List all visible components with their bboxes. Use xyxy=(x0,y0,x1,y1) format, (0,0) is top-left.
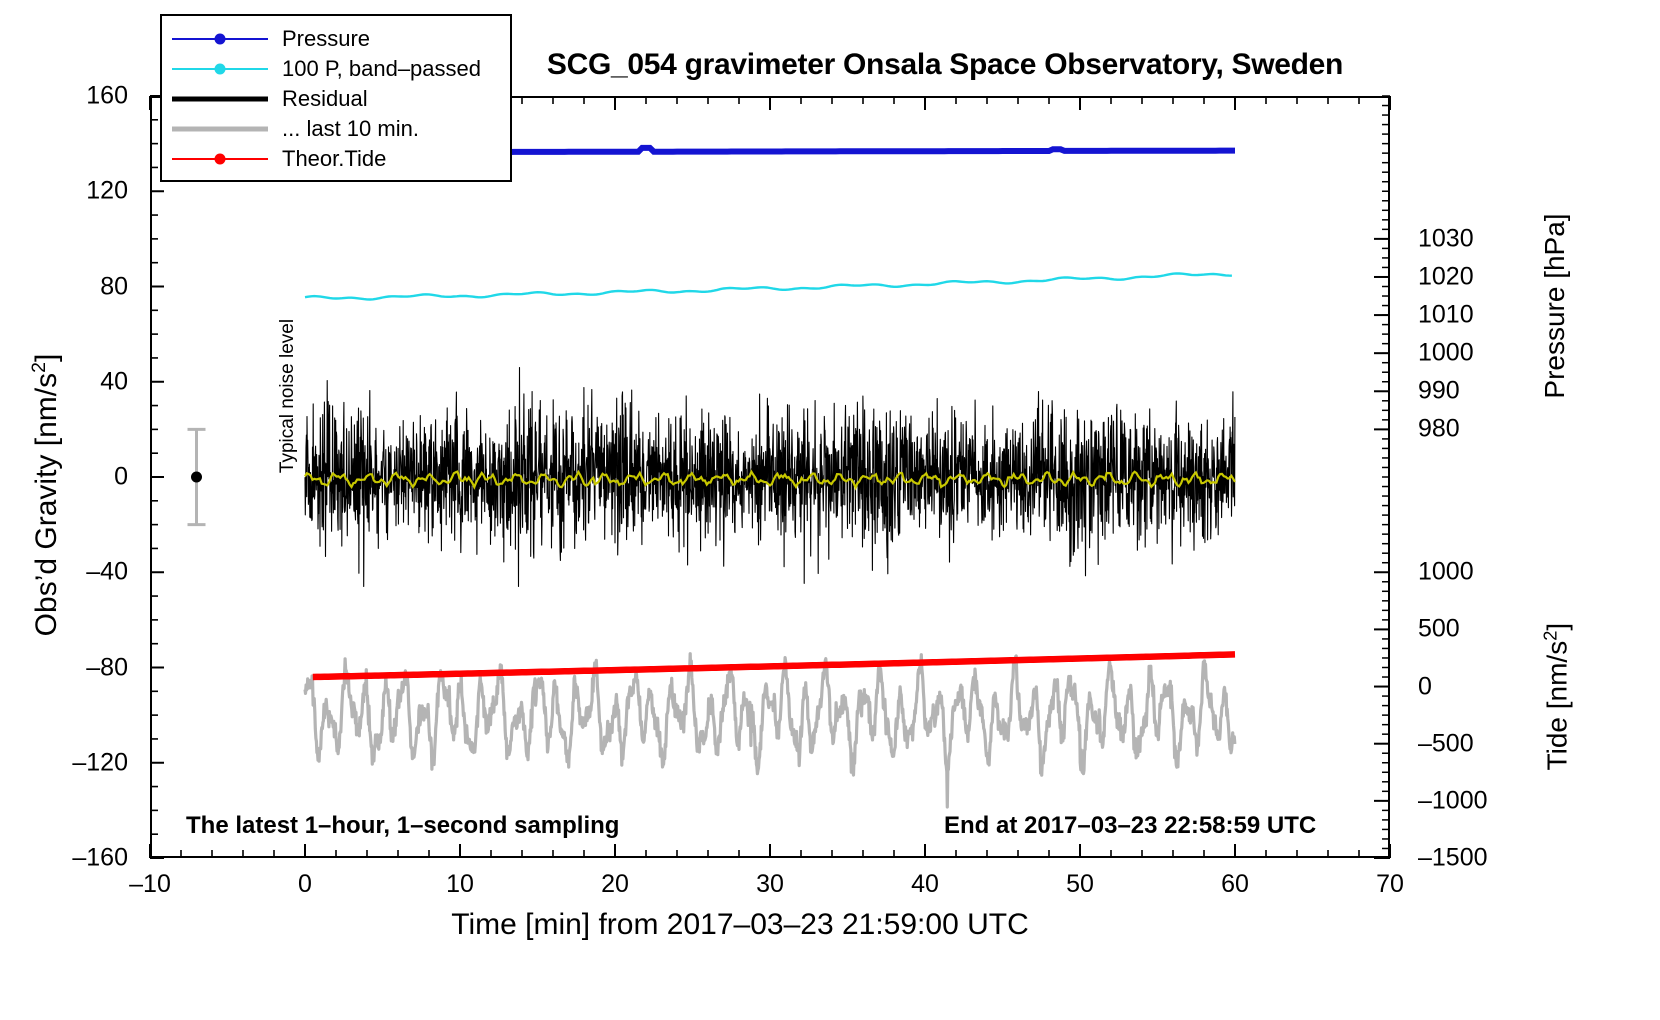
y-tick-pressure-5: 980 xyxy=(1418,415,1460,444)
annotation-noise-level: Typical noise level xyxy=(277,286,299,506)
legend-label-theor-tide: Theor.Tide xyxy=(282,146,386,172)
legend-label-pressure: Pressure xyxy=(282,26,370,52)
page-title: SCG_054 gravimeter Onsala Space Observat… xyxy=(525,48,1365,82)
legend-swatch-bandpassed xyxy=(172,61,268,77)
chart-page: SCG_054 gravimeter Onsala Space Observat… xyxy=(0,0,1660,1020)
x-tick-7: 60 xyxy=(1221,870,1249,899)
y-tick-pressure-2: 1010 xyxy=(1418,301,1474,330)
legend-swatch-residual xyxy=(172,91,268,107)
y-axis-title-left: Obs’d Gravity [nm/s2] xyxy=(28,175,64,815)
legend-swatch-theor-tide xyxy=(172,151,268,167)
y-tick-pressure-1: 1020 xyxy=(1418,262,1474,291)
legend-item-pressure[interactable]: Pressure xyxy=(172,24,500,54)
y-tick-left-7: –120 xyxy=(8,748,128,777)
chart-legend: Pressure 100 P, band–passed Residual ...… xyxy=(160,14,512,182)
x-tick-8: 70 xyxy=(1376,870,1404,899)
x-axis-title: Time [min] from 2017–03–23 21:59:00 UTC xyxy=(0,908,1480,942)
y-tick-pressure-3: 1000 xyxy=(1418,339,1474,368)
y-tick-tide-0: 1000 xyxy=(1418,558,1474,587)
x-tick-6: 50 xyxy=(1066,870,1094,899)
x-tick-0: –10 xyxy=(129,870,171,899)
legend-swatch-last10min xyxy=(172,121,268,137)
y-tick-tide-2: 0 xyxy=(1418,672,1432,701)
legend-label-bandpassed: 100 P, band–passed xyxy=(282,56,481,82)
plot-area xyxy=(150,96,1390,858)
annotation-sampling-note: The latest 1–hour, 1–second sampling xyxy=(186,812,619,840)
y-tick-left-3: 40 xyxy=(8,367,128,396)
legend-label-last10min: ... last 10 min. xyxy=(282,116,419,142)
y-tick-left-6: –80 xyxy=(8,653,128,682)
legend-swatch-pressure xyxy=(172,31,268,47)
x-tick-1: 0 xyxy=(298,870,312,899)
y-tick-left-2: 80 xyxy=(8,272,128,301)
annotation-end-time: End at 2017–03–23 22:58:59 UTC xyxy=(944,812,1316,840)
x-tick-4: 30 xyxy=(756,870,784,899)
x-tick-2: 10 xyxy=(446,870,474,899)
x-tick-5: 40 xyxy=(911,870,939,899)
legend-label-residual: Residual xyxy=(282,86,368,112)
y-tick-pressure-4: 990 xyxy=(1418,377,1460,406)
y-tick-pressure-0: 1030 xyxy=(1418,224,1474,253)
legend-item-bandpassed[interactable]: 100 P, band–passed xyxy=(172,54,500,84)
y-tick-tide-1: 500 xyxy=(1418,615,1460,644)
y-tick-left-1: 120 xyxy=(8,177,128,206)
y-tick-tide-3: –500 xyxy=(1418,729,1474,758)
legend-item-theor-tide[interactable]: Theor.Tide xyxy=(172,144,500,174)
y-axis-title-pressure: Pressure [hPa] xyxy=(1539,96,1571,516)
y-axis-title-tide: Tide [nm/s2] xyxy=(1540,517,1573,877)
y-tick-tide-5: –1500 xyxy=(1418,844,1488,873)
y-tick-left-4: 0 xyxy=(8,463,128,492)
y-tick-left-8: –160 xyxy=(8,844,128,873)
y-tick-tide-4: –1000 xyxy=(1418,786,1488,815)
x-tick-3: 20 xyxy=(601,870,629,899)
y-tick-left-5: –40 xyxy=(8,558,128,587)
y-tick-left-0: 160 xyxy=(8,82,128,111)
legend-item-residual[interactable]: Residual xyxy=(172,84,500,114)
legend-item-last10min[interactable]: ... last 10 min. xyxy=(172,114,500,144)
